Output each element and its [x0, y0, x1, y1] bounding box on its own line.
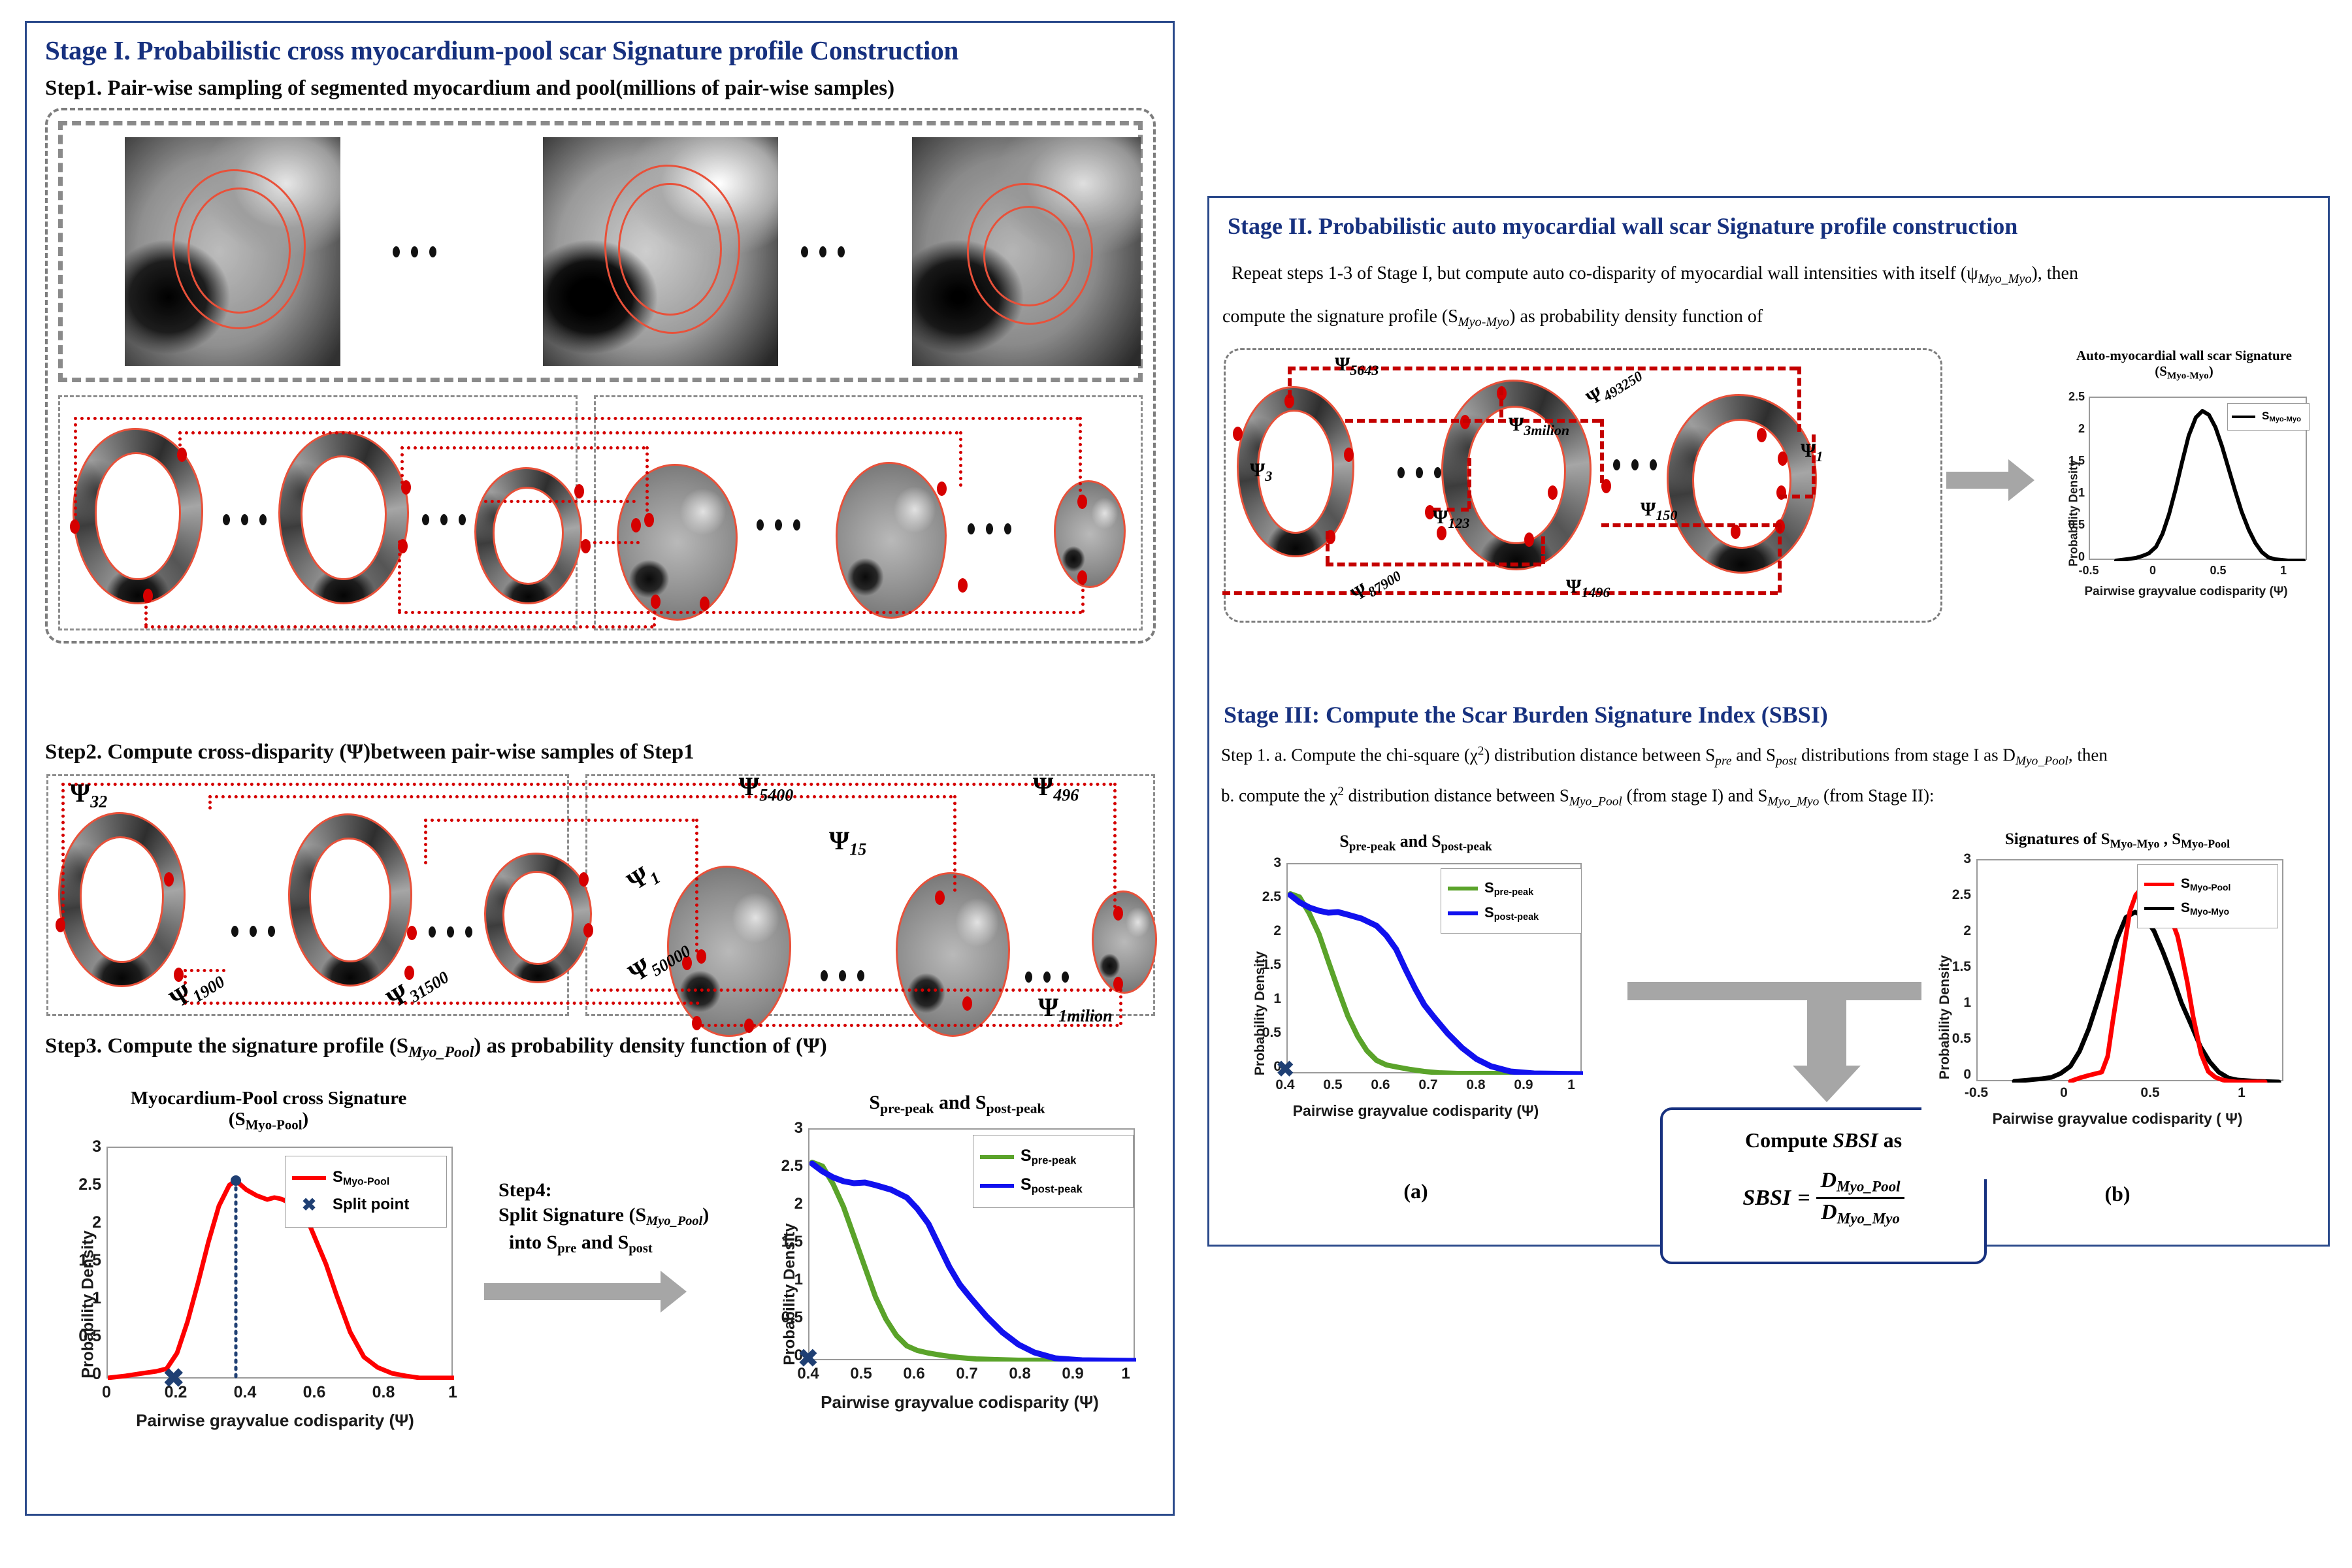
step-4-line-1: Step4: — [498, 1178, 773, 1203]
stage-3-step1b: b. compute the χ2 distribution distance … — [1221, 785, 1934, 809]
y-tick: 0.5 — [1237, 1025, 1281, 1041]
pair-connector — [398, 540, 401, 612]
ellipsis-step2-3 — [821, 970, 864, 981]
legend-label: Spre-peak — [1021, 1147, 1076, 1168]
y-tick: 3 — [1938, 851, 1971, 867]
x-tick: 1 — [1106, 1365, 1145, 1383]
x-tick: 0 — [2133, 564, 2172, 578]
x-tick: 0.2 — [156, 1383, 195, 1402]
caption-b: (b) — [1921, 1182, 2313, 1206]
stage2-arrow-right — [1946, 459, 2034, 501]
x-tick: 0.6 — [295, 1383, 334, 1402]
y-tick: 0.5 — [753, 1309, 803, 1327]
chart-title: Auto-myocardial wall scar Signature (SMy… — [2047, 348, 2321, 382]
auto-disparity-connector — [1288, 367, 1292, 398]
sample-point — [1344, 448, 1354, 462]
y-tick: 2.5 — [2053, 390, 2085, 404]
disparity-connector — [61, 783, 65, 920]
chart-pre-post-peak-stage3: Spre-peak and Spost-peak Probability Den… — [1233, 823, 1599, 1175]
y-tick: 1.5 — [1927, 959, 1971, 975]
sample-point — [579, 872, 589, 887]
legend-swatch-pre-peak — [980, 1155, 1014, 1159]
psi-label-5400: Ψ5400 — [739, 771, 793, 805]
auto-disparity-connector — [1222, 591, 1778, 595]
y-tick: 2.5 — [1237, 889, 1281, 905]
split-top-dot — [231, 1175, 241, 1186]
x-tick: 0.4 — [789, 1365, 828, 1383]
y-tick: 2 — [766, 1195, 803, 1213]
ellipsis-stage2-2 — [1613, 459, 1657, 470]
y-tick: 1.5 — [2053, 454, 2085, 468]
y-tick: 0 — [1938, 1067, 1971, 1083]
pair-connector — [581, 541, 640, 544]
x-tick: -0.5 — [1953, 1085, 2000, 1101]
legend-label: Spre-peak — [1484, 879, 1533, 898]
auto-disparity-connector — [1600, 419, 1604, 483]
step-2-heading: Step2. Compute cross-disparity (Ψ)betwee… — [45, 740, 694, 764]
stage-2-title: Stage II. Probabilistic auto myocardial … — [1228, 212, 2017, 240]
psi-label-3milion: Ψ3milion — [1509, 414, 1569, 439]
pair-connector — [74, 417, 77, 523]
mri-slice-2 — [543, 137, 778, 366]
x-axis-label: Pairwise grayvalue codisparity (Ψ) — [1246, 1102, 1586, 1120]
ellipsis-stage2-1 — [1397, 467, 1441, 478]
x-tick: 0.9 — [1053, 1365, 1092, 1383]
ellipsis-myo-2 — [422, 514, 466, 525]
auto-disparity-connector — [1326, 563, 1541, 566]
ellipsis-pool-1 — [757, 519, 800, 531]
chart-legend: Spre-peak Spost-peak — [973, 1135, 1134, 1208]
ellipsis-step2-1 — [231, 926, 275, 937]
y-tick: 1.5 — [753, 1233, 803, 1251]
y-tick: 1 — [1938, 995, 1971, 1011]
chart-legend: SMyo-Myo — [2227, 403, 2310, 431]
sample-point — [962, 996, 972, 1011]
auto-disparity-connector — [1601, 523, 1781, 527]
pair-connector — [74, 417, 1080, 420]
legend-swatch-pre-peak — [1448, 887, 1478, 890]
auto-disparity-connector — [1778, 525, 1782, 593]
legend-swatch-myo-pool — [292, 1176, 326, 1180]
disparity-connector — [208, 795, 953, 798]
psi-label-1: Ψ1 — [1801, 440, 1823, 465]
chart-signatures-comparison: Signatures of SMyo-Myo , SMyo-Pool Proba… — [1921, 820, 2313, 1179]
sample-point — [583, 923, 593, 938]
legend-swatch-split-point: ✖ — [292, 1195, 326, 1215]
x-tick: 0.5 — [1315, 1077, 1351, 1093]
mri-slice-1 — [125, 137, 340, 366]
y-tick: 3 — [766, 1119, 803, 1137]
legend-swatch-post-peak — [980, 1184, 1014, 1188]
sbsi-fraction: DMyo_Pool DMyo_Myo — [1816, 1168, 1904, 1228]
disparity-connector — [208, 795, 212, 809]
y-tick: 1.5 — [1237, 957, 1281, 973]
ellipsis-myo-1 — [223, 514, 267, 525]
sample-point — [1757, 428, 1767, 442]
sample-point — [700, 596, 710, 611]
sample-point — [958, 578, 968, 593]
x-axis-label: Pairwise grayvalue codisparity (Ψ) — [2059, 585, 2313, 599]
x-tick: 1 — [2264, 564, 2303, 578]
pair-connector — [484, 500, 636, 503]
sample-point — [407, 926, 417, 940]
disparity-connector — [1113, 783, 1117, 908]
legend-label: SMyo-Pool — [2181, 876, 2230, 892]
sample-point — [56, 918, 65, 932]
sample-point — [574, 484, 584, 498]
disparity-connector — [695, 819, 698, 953]
chart-myo-pool-signature: Myocardium-Pool cross Signature (SMyo-Po… — [46, 1076, 491, 1475]
y-tick: 1 — [2059, 486, 2085, 500]
sample-point — [1778, 451, 1788, 466]
legend-label: Spost-peak — [1484, 904, 1539, 923]
sample-point — [935, 890, 945, 905]
psi-label-1milion: Ψ1milion — [1038, 992, 1113, 1026]
x-tick: 0.4 — [1267, 1077, 1303, 1093]
pair-connector — [1081, 575, 1085, 613]
psi-label-32: Ψ32 — [70, 777, 107, 811]
sbsi-lhs: SBSI — [1742, 1186, 1791, 1211]
pair-connector — [398, 611, 1083, 614]
sbsi-numerator: DMyo_Pool — [1816, 1168, 1904, 1199]
legend-item-myo-pool: SMyo-Pool — [292, 1168, 440, 1188]
psi-label-496: Ψ496 — [1033, 771, 1079, 805]
legend-swatch-myo-myo — [2232, 416, 2255, 418]
ellipsis-slices-2 — [801, 246, 845, 257]
curve-myo-myo — [2116, 411, 2304, 561]
x-tick: 0 — [2046, 1085, 2082, 1101]
legend-item-post-peak: Spost-peak — [980, 1175, 1126, 1196]
x-tick: 0.8 — [1000, 1365, 1039, 1383]
disparity-connector — [1119, 982, 1122, 1025]
psi-label-5643: Ψ5643 — [1335, 353, 1379, 379]
legend-swatch-post-peak — [1448, 911, 1478, 915]
disparity-connector — [184, 1002, 700, 1005]
disparity-connector — [953, 795, 956, 892]
chart-title: Signatures of SMyo-Myo , SMyo-Pool — [1921, 830, 2313, 851]
psi-label-3: Ψ3 — [1250, 459, 1272, 485]
pair-connector — [178, 431, 182, 453]
x-tick: 0.6 — [894, 1365, 934, 1383]
y-tick: 2 — [2059, 422, 2085, 436]
legend-swatch-myo-myo — [2144, 907, 2174, 910]
ellipsis-step2-4 — [1025, 972, 1069, 983]
auto-disparity-connector — [1779, 495, 1813, 498]
x-axis-label: Pairwise grayvalue codisparity (Ψ) — [770, 1392, 1149, 1413]
legend-swatch-myo-pool — [2144, 883, 2174, 886]
y-tick: 1 — [65, 1289, 101, 1308]
pair-connector — [144, 625, 654, 629]
legend-label: Spost-peak — [1021, 1175, 1083, 1196]
ellipsis-pool-2 — [968, 523, 1011, 534]
auto-disparity-connector — [1467, 458, 1471, 509]
step-1-heading: Step1. Pair-wise sampling of segmented m… — [45, 76, 894, 101]
stage-2-panel: Stage II. Probabilistic auto myocardial … — [1207, 196, 2330, 1247]
y-axis-label: Probability Density — [1252, 915, 1268, 1111]
y-tick: 2.5 — [1927, 887, 1971, 903]
y-tick: 1 — [766, 1271, 803, 1289]
sample-point — [164, 872, 174, 887]
curve-myo-myo — [2014, 912, 2279, 1082]
pair-connector — [144, 594, 148, 627]
sample-point — [1233, 427, 1243, 441]
legend-item-myo-pool: SMyo-Pool — [2144, 876, 2271, 892]
chart-legend: Spre-peak Spost-peak — [1441, 868, 1582, 934]
chart-legend: SMyo-Pool ✖ Split point — [285, 1156, 447, 1228]
step2-myocardium-ring-3 — [484, 853, 592, 983]
stage-2-line-2: compute the signature profile (SMyo-Myo)… — [1222, 306, 1763, 330]
psi-label-123: Ψ123 — [1433, 506, 1469, 532]
legend-item-post-peak: Spost-peak — [1448, 904, 1575, 923]
psi-label-150: Ψ150 — [1641, 498, 1677, 524]
y-tick: 3 — [65, 1137, 101, 1156]
legend-label: SMyo-Myo — [2262, 410, 2301, 423]
y-tick: 2 — [1938, 923, 1971, 939]
y-tick: 1 — [1249, 991, 1281, 1007]
x-tick: 0.5 — [2132, 1085, 2168, 1101]
x-tick: 0 — [87, 1383, 126, 1402]
y-tick: 3 — [1249, 855, 1281, 871]
legend-label: Split point — [333, 1196, 409, 1214]
y-tick: 1.5 — [52, 1251, 101, 1270]
x-tick: 0.5 — [2198, 564, 2238, 578]
chart-pre-post-peak-stage1: Spre-peak and Spost-peak Probability Den… — [757, 1076, 1157, 1475]
pair-connector — [400, 446, 404, 484]
psi-label-1496: Ψ1496 — [1566, 576, 1610, 601]
x-axis-label: Pairwise grayvalue codisparity ( Ψ) — [1935, 1110, 2300, 1128]
legend-item-myo-myo: SMyo-Myo — [2232, 410, 2305, 423]
y-tick: 0 — [2059, 550, 2085, 564]
mri-slice-3 — [912, 137, 1141, 366]
x-axis-label: Pairwise grayvalue codisparity (Ψ) — [73, 1411, 478, 1431]
sample-point — [937, 482, 947, 496]
x-tick: 0.8 — [1458, 1077, 1494, 1093]
disparity-connector — [424, 819, 695, 822]
disparity-connector — [61, 783, 1113, 786]
x-tick: 1 — [1553, 1077, 1590, 1093]
sbsi-denominator: DMyo_Myo — [1817, 1199, 1904, 1228]
y-tick: 2.5 — [753, 1157, 803, 1175]
stage-3-step1a: Step 1. a. Compute the chi-square (χ2) d… — [1221, 744, 2108, 768]
chart-title: Spre-peak and Spost-peak — [1233, 832, 1599, 855]
y-tick: 0.5 — [2053, 518, 2085, 532]
y-tick: 2 — [1249, 923, 1281, 939]
x-tick: 0.6 — [1362, 1077, 1399, 1093]
step4-arrow-right — [484, 1271, 687, 1313]
ellipsis-slices-1 — [393, 246, 436, 257]
y-tick: 2 — [65, 1213, 101, 1232]
pair-connector — [959, 431, 962, 487]
y-tick: 0 — [65, 1365, 101, 1384]
pair-connector — [1079, 417, 1082, 498]
auto-disparity-connector — [1541, 536, 1545, 564]
psi-label-15: Ψ15 — [829, 825, 866, 859]
y-axis-label: Probability Density — [1937, 919, 1953, 1115]
sample-point — [1113, 906, 1123, 921]
stage-3-title: Stage III: Compute the Scar Burden Signa… — [1224, 701, 1828, 728]
chart-title: Spre-peak and Spost-peak — [757, 1092, 1157, 1117]
stage-1-panel: Stage I. Probabilistic cross myocardium-… — [25, 21, 1175, 1516]
pair-connector — [645, 446, 649, 518]
y-tick: 2.5 — [52, 1175, 101, 1194]
sample-point — [1524, 532, 1534, 547]
x-tick: 0.9 — [1505, 1077, 1542, 1093]
step-4-line-2: Split Signature (SMyo_Pool) — [498, 1203, 773, 1230]
x-tick: 1 — [433, 1383, 472, 1402]
sbsi-operator: = — [1797, 1186, 1810, 1211]
pair-connector — [400, 446, 645, 449]
pair-connector — [178, 431, 959, 434]
legend-item-split-point: ✖ Split point — [292, 1195, 440, 1215]
x-tick: 0.4 — [225, 1383, 265, 1402]
x-tick: 0.7 — [1410, 1077, 1446, 1093]
stage-2-line-1: Repeat steps 1-3 of Stage I, but compute… — [1232, 263, 2078, 287]
x-tick: -0.5 — [2069, 564, 2108, 578]
step-4-text: Step4: Split Signature (SMyo_Pool) into … — [498, 1178, 773, 1257]
legend-item-pre-peak: Spre-peak — [1448, 879, 1575, 898]
chart-title: Myocardium-Pool cross Signature (SMyo-Po… — [46, 1088, 491, 1133]
step-3-heading: Step3. Compute the signature profile (SM… — [45, 1034, 827, 1062]
sample-point — [631, 518, 641, 532]
legend-label: SMyo-Myo — [2181, 900, 2229, 917]
ellipsis-step2-2 — [429, 926, 472, 938]
auto-disparity-connector — [1499, 387, 1503, 417]
chart-auto-myo-signature: Auto-myocardial wall scar Signature (SMy… — [2047, 343, 2321, 644]
disparity-connector — [424, 819, 427, 864]
x-tick: 1 — [2223, 1085, 2260, 1101]
y-tick: 0.5 — [52, 1327, 101, 1346]
caption-a: (a) — [1233, 1179, 1599, 1203]
stage-1-title: Stage I. Probabilistic cross myocardium-… — [45, 35, 958, 66]
auto-disparity-connector — [1326, 531, 1330, 564]
step-4-line-3: into Spre and Spost — [498, 1230, 773, 1257]
legend-item-pre-peak: Spre-peak — [980, 1147, 1126, 1168]
x-tick: 0.5 — [841, 1365, 881, 1383]
sample-point — [1548, 485, 1558, 500]
legend-label: SMyo-Pool — [333, 1168, 389, 1188]
x-tick: 0.7 — [947, 1365, 987, 1383]
chart-legend: SMyo-Pool SMyo-Myo — [2137, 864, 2278, 928]
legend-item-myo-myo: SMyo-Myo — [2144, 900, 2271, 917]
y-tick: 0.5 — [1927, 1031, 1971, 1047]
auto-disparity-connector — [1797, 367, 1801, 432]
sample-point — [692, 1016, 702, 1030]
x-tick: 0.8 — [364, 1383, 403, 1402]
